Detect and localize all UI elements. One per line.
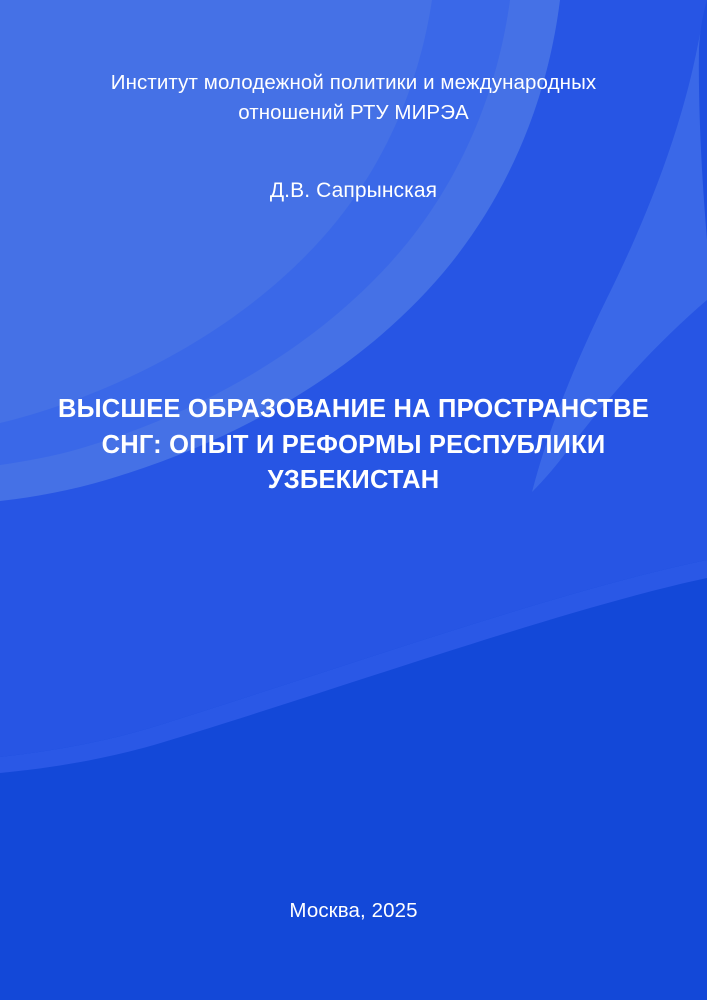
author-name: Д.В. Сапрынская bbox=[0, 176, 707, 206]
title-line-3: УЗБЕКИСТАН bbox=[6, 463, 701, 499]
title-line-2: СНГ: ОПЫТ И РЕФОРМЫ РЕСПУБЛИКИ bbox=[6, 428, 701, 464]
institute-line-1: Институт молодежной политики и междунаро… bbox=[18, 68, 689, 98]
book-title: ВЫСШЕЕ ОБРАЗОВАНИЕ НА ПРОСТРАНСТВЕ СНГ: … bbox=[0, 392, 707, 499]
book-cover-page: Институт молодежной политики и междунаро… bbox=[0, 0, 707, 1000]
institute-line-2: отношений РТУ МИРЭА bbox=[18, 98, 689, 128]
imprint-place-year: Москва, 2025 bbox=[0, 896, 707, 926]
author-name-text: Д.В. Сапрынская bbox=[0, 176, 707, 206]
title-line-1: ВЫСШЕЕ ОБРАЗОВАНИЕ НА ПРОСТРАНСТВЕ bbox=[6, 392, 701, 428]
cover-content-layer: Институт молодежной политики и междунаро… bbox=[0, 0, 707, 1000]
imprint-text: Москва, 2025 bbox=[0, 896, 707, 926]
institute-name: Институт молодежной политики и междунаро… bbox=[0, 68, 707, 128]
